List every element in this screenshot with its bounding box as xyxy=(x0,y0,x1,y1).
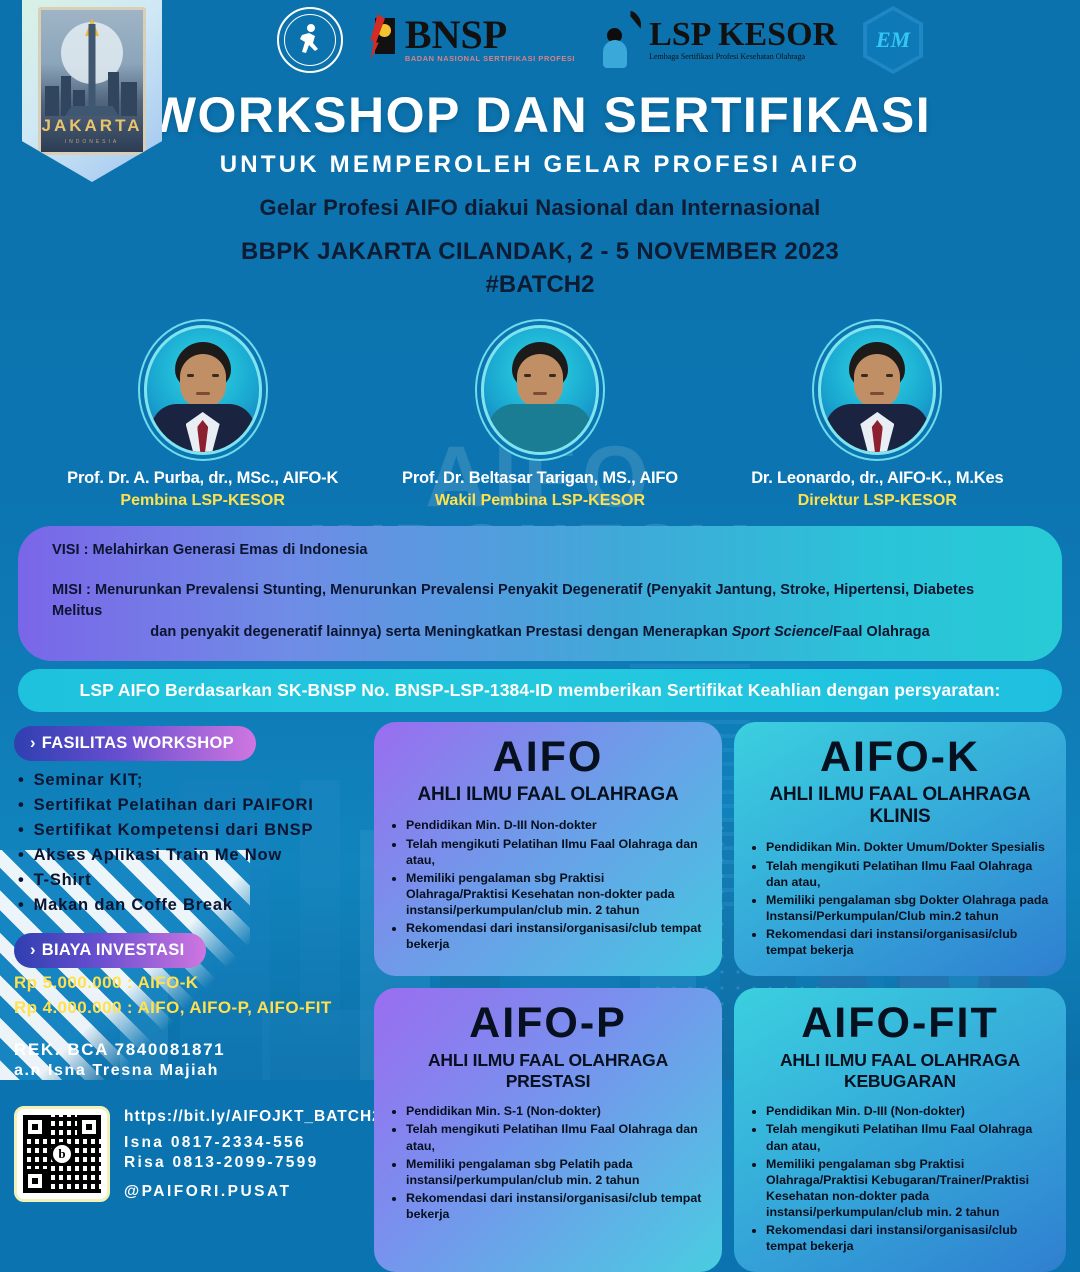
list-item: Rekomendasi dari instansi/organisasi/clu… xyxy=(766,926,1050,958)
speaker-card: Prof. Dr. Beltasar Tarigan, MS., AIFO Wa… xyxy=(390,325,690,510)
card-code: AIFO-K xyxy=(750,736,1050,779)
qr-logo-icon: b xyxy=(50,1142,74,1166)
list-item: Sertifikat Kompetensi dari BNSP xyxy=(18,821,362,840)
certification-card-aifo-fit: AIFO-FIT AHLI ILMU FAAL OLAHRAGA KEBUGAR… xyxy=(734,988,1066,1272)
card-code: AIFO-P xyxy=(390,1002,706,1045)
avatar xyxy=(144,325,262,455)
bnsp-mark-icon xyxy=(369,14,399,66)
instagram-handle[interactable]: @PAIFORI.PUSAT xyxy=(124,1183,382,1201)
bnsp-tagline: BADAN NASIONAL SERTIFIKASI PROFESI xyxy=(405,54,575,63)
mission-line-2b: /Faal Olahraga xyxy=(829,624,930,640)
qr-finder-icon xyxy=(77,1115,101,1139)
card-code: AIFO-FIT xyxy=(750,1002,1050,1045)
card-name: AHLI ILMU FAAL OLAHRAGA KLINIS xyxy=(750,784,1050,828)
list-item: Makan dan Coffe Break xyxy=(18,896,362,915)
mission-line-2a: dan penyakit degeneratif lainnya) serta … xyxy=(150,624,732,640)
monas-base-shape xyxy=(65,106,119,116)
kesor-person-icon xyxy=(601,10,643,70)
list-item: Memiliki pengalaman sbg Praktisi Olahrag… xyxy=(766,1156,1050,1221)
qr-code[interactable]: b xyxy=(14,1106,110,1202)
speaker-card: Prof. Dr. A. Purba, dr., MSc., AIFO-K Pe… xyxy=(53,325,353,510)
speaker-name: Prof. Dr. A. Purba, dr., MSc., AIFO-K xyxy=(53,469,353,488)
price-line: Rp 5.000.000 : AIFO-K xyxy=(14,973,362,993)
speaker-name: Dr. Leonardo, dr., AIFO-K., M.Kes xyxy=(727,469,1027,488)
contact-phone-2[interactable]: Risa 0813-2099-7599 xyxy=(124,1154,382,1172)
price-line: Rp 4.000.000 : AIFO, AIFO-P, AIFO-FIT xyxy=(14,998,362,1018)
event-date-venue: BBPK JAKARTA CILANDAK, 2 - 5 NOVEMBER 20… xyxy=(0,238,1080,266)
avatar xyxy=(818,325,936,455)
lsp-kesor-logo: LSP KESOR Lembaga Sertifikasi Profesi Ke… xyxy=(601,10,837,70)
speaker-role: Pembina LSP-KESOR xyxy=(53,492,353,510)
info-column: ›FASILITAS WORKSHOP Seminar KIT; Sertifi… xyxy=(14,722,362,1272)
paifori-seal-icon xyxy=(277,7,343,73)
list-item: Rekomendasi dari instansi/organisasi/clu… xyxy=(766,1222,1050,1254)
event-batch-hashtag: #BATCH2 xyxy=(0,271,1080,299)
list-item: T-Shirt xyxy=(18,871,362,890)
sk-bnsp-banner: LSP AIFO Berdasarkan SK-BNSP No. BNSP-LS… xyxy=(18,669,1062,712)
vision-mission-banner: VISI : Melahirkan Generasi Emas di Indon… xyxy=(18,526,1062,661)
card-code: AIFO xyxy=(390,736,706,779)
mission-text: MISI : Menurunkan Prevalensi Stunting, M… xyxy=(52,580,1028,643)
list-item: Telah mengikuti Pelatihan Ilmu Faal Olah… xyxy=(766,858,1050,890)
investment-heading-label: BIAYA INVESTASI xyxy=(42,941,185,959)
avatar xyxy=(481,325,599,455)
requirements-list: Pendidikan Min. D-III Non-dokter Telah m… xyxy=(406,817,706,952)
jakarta-label: JAKARTA xyxy=(41,116,143,136)
speaker-card: Dr. Leonardo, dr., AIFO-K., M.Kes Direkt… xyxy=(727,325,1027,510)
card-name: AHLI ILMU FAAL OLAHRAGA xyxy=(390,784,706,806)
investment-heading: ›BIAYA INVESTASI xyxy=(14,933,206,968)
page-title: WORKSHOP DAN SERTIFIKASI xyxy=(0,90,1080,140)
list-item: Pendidikan Min. D-III (Non-dokter) xyxy=(766,1103,1050,1119)
speaker-name: Prof. Dr. Beltasar Tarigan, MS., AIFO xyxy=(390,469,690,488)
registration-link[interactable]: https://bit.ly/AIFOJKT_BATCH2 xyxy=(124,1108,382,1126)
running-person-icon xyxy=(295,23,325,57)
certification-grid: AIFO AHLI ILMU FAAL OLAHRAGA Pendidikan … xyxy=(0,712,1080,1272)
list-item: Rekomendasi dari instansi/organisasi/clu… xyxy=(406,1190,706,1222)
list-item: Sertifikat Pelatihan dari PAIFORI xyxy=(18,796,362,815)
facilities-list: Seminar KIT; Sertifikat Pelatihan dari P… xyxy=(18,771,362,915)
certification-card-aifo: AIFO AHLI ILMU FAAL OLAHRAGA Pendidikan … xyxy=(374,722,722,976)
facilities-heading: ›FASILITAS WORKSHOP xyxy=(14,726,256,761)
requirements-list: Pendidikan Min. Dokter Umum/Dokter Spesi… xyxy=(766,839,1050,958)
requirements-list: Pendidikan Min. S-1 (Non-dokter) Telah m… xyxy=(406,1103,706,1222)
qr-finder-icon xyxy=(23,1169,47,1193)
list-item: Memiliki pengalaman sbg Praktisi Olahrag… xyxy=(406,870,706,918)
list-item: Seminar KIT; xyxy=(18,771,362,790)
list-item: Telah mengikuti Pelatihan Ilmu Faal Olah… xyxy=(406,836,706,868)
card-name: AHLI ILMU FAAL OLAHRAGA PRESTASI xyxy=(390,1050,706,1092)
list-item: Memiliki pengalaman sbg Pelatih pada ins… xyxy=(406,1156,706,1188)
list-item: Rekomendasi dari instansi/organisasi/clu… xyxy=(406,920,706,952)
requirements-list: Pendidikan Min. D-III (Non-dokter) Telah… xyxy=(766,1103,1050,1254)
bank-account-number: REK. BCA 7840081871 xyxy=(14,1040,362,1060)
paifori-seal-logo xyxy=(277,7,343,73)
certification-card-aifo-p: AIFO-P AHLI ILMU FAAL OLAHRAGA PRESTASI … xyxy=(374,988,722,1272)
bnsp-logo: BNSP BADAN NASIONAL SERTIFIKASI PROFESI xyxy=(369,14,575,66)
partner-logos: BNSP BADAN NASIONAL SERTIFIKASI PROFESI … xyxy=(120,0,1080,78)
list-item: Memiliki pengalaman sbg Dokter Olahraga … xyxy=(766,892,1050,924)
speakers-row: Prof. Dr. A. Purba, dr., MSc., AIFO-K Pe… xyxy=(0,325,1080,510)
contact-details: https://bit.ly/AIFOJKT_BATCH2 Isna 0817-… xyxy=(124,1108,382,1201)
mission-line-1: MISI : Menurunkan Prevalensi Stunting, M… xyxy=(52,580,1028,622)
list-item: Akses Aplikasi Train Me Now xyxy=(18,846,362,865)
kesor-wordmark: LSP KESOR xyxy=(649,19,837,51)
certification-card-aifo-k: AIFO-K AHLI ILMU FAAL OLAHRAGA KLINIS Pe… xyxy=(734,722,1066,976)
facilities-heading-label: FASILITAS WORKSHOP xyxy=(42,734,234,752)
contact-phone-1[interactable]: Isna 0817-2334-556 xyxy=(124,1134,382,1152)
bnsp-wordmark: BNSP xyxy=(405,17,575,54)
skyline-block xyxy=(45,86,59,116)
mission-italic-term: Sport Science xyxy=(732,624,829,640)
em-hex-logo: EM xyxy=(863,6,923,74)
card-name: AHLI ILMU FAAL OLAHRAGA KEBUGARAN xyxy=(750,1050,1050,1092)
contact-block: b https://bit.ly/AIFOJKT_BATCH2 Isna 081… xyxy=(14,1106,362,1202)
speaker-role: Direktur LSP-KESOR xyxy=(727,492,1027,510)
poster-header: JAKARTA INDONESIA BNSP BADAN NASIONAL SE… xyxy=(0,0,1080,299)
list-item: Telah mengikuti Pelatihan Ilmu Faal Olah… xyxy=(406,1121,706,1153)
indonesia-label: INDONESIA xyxy=(41,139,143,145)
list-item: Telah mengikuti Pelatihan Ilmu Faal Olah… xyxy=(766,1121,1050,1153)
qr-code-pattern: b xyxy=(23,1115,101,1193)
page-tagline: Gelar Profesi AIFO diakui Nasional dan I… xyxy=(0,195,1080,221)
skyline-block xyxy=(121,82,137,116)
qr-finder-icon xyxy=(23,1115,47,1139)
em-wordmark: EM xyxy=(876,27,910,53)
list-item: Pendidikan Min. Dokter Umum/Dokter Spesi… xyxy=(766,839,1050,855)
vision-text: VISI : Melahirkan Generasi Emas di Indon… xyxy=(52,542,1028,558)
jakarta-illustration: JAKARTA INDONESIA xyxy=(38,7,146,155)
bank-account-name: a.n Isna Tresna Majiah xyxy=(14,1062,362,1080)
chevron-right-icon: › xyxy=(30,941,36,959)
list-item: Pendidikan Min. S-1 (Non-dokter) xyxy=(406,1103,706,1119)
list-item: Pendidikan Min. D-III Non-dokter xyxy=(406,817,706,833)
speaker-role: Wakil Pembina LSP-KESOR xyxy=(390,492,690,510)
page-subtitle: UNTUK MEMPEROLEH GELAR PROFESI AIFO xyxy=(0,151,1080,179)
chevron-right-icon: › xyxy=(30,734,36,752)
